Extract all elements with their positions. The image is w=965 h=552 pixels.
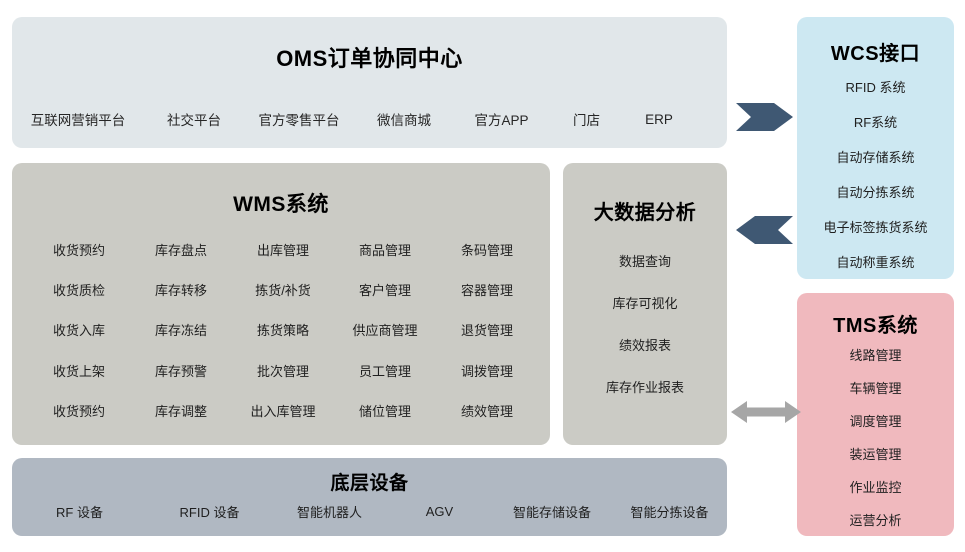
wms-module-batch-management[interactable]: 批次管理 [257, 361, 309, 380]
wms-module-stock-count[interactable]: 库存盘点 [155, 240, 207, 259]
oms-channel-official-retail[interactable]: 官方零售平台 [244, 109, 354, 129]
oms-channel-store[interactable]: 门店 [549, 109, 624, 129]
oms-title: OMS订单协同中心 [12, 41, 727, 73]
wcs-item-rf-system[interactable]: RF系统 [854, 112, 897, 131]
wms-module-allocation-management[interactable]: 调拨管理 [461, 361, 513, 380]
wms-title: WMS系统 [12, 188, 550, 218]
wcs-item-rfid-system[interactable]: RFID 系统 [846, 77, 906, 96]
wms-module-grid: 收货预约 库存盘点 出库管理 商品管理 条码管理 收货质检 库存转移 拣货/补货… [28, 229, 538, 431]
wms-module-receipt-appointment[interactable]: 收货预约 [53, 240, 105, 259]
wms-module-stock-transfer[interactable]: 库存转移 [155, 280, 207, 299]
bigdata-item-inventory-ops-report[interactable]: 库存作业报表 [606, 377, 684, 396]
devices-title: 底层设备 [12, 468, 727, 495]
wms-module-receipt-inspection[interactable]: 收货质检 [53, 280, 105, 299]
device-smart-sorting[interactable]: 智能分拣设备 [612, 502, 727, 521]
diagram-canvas: OMS订单协同中心 互联网营销平台 社交平台 官方零售平台 微信商城 官方APP… [0, 0, 965, 552]
oms-channel-official-app[interactable]: 官方APP [454, 109, 549, 129]
tms-item-list: 线路管理 车辆管理 调度管理 装运管理 作业监控 运营分析 [797, 345, 954, 529]
wms-module-product-management[interactable]: 商品管理 [359, 240, 411, 259]
wcs-item-auto-storage-system[interactable]: 自动存储系统 [836, 147, 914, 166]
tms-panel: TMS系统 线路管理 车辆管理 调度管理 装运管理 作业监控 运营分析 [797, 293, 954, 536]
tms-item-route-management[interactable]: 线路管理 [849, 345, 901, 364]
device-smart-robot[interactable]: 智能机器人 [272, 502, 387, 521]
bigdata-item-data-query[interactable]: 数据查询 [619, 251, 671, 270]
arrow-bidirectional-bigdata-to-tms-icon [731, 398, 801, 426]
tms-item-vehicle-management[interactable]: 车辆管理 [849, 378, 901, 397]
tms-item-shipping-management[interactable]: 装运管理 [849, 444, 901, 463]
oms-channel-row: 互联网营销平台 社交平台 官方零售平台 微信商城 官方APP 门店 ERP [12, 109, 727, 129]
oms-channel-erp[interactable]: ERP [624, 112, 694, 127]
tms-item-dispatch-management[interactable]: 调度管理 [849, 411, 901, 430]
device-agv[interactable]: AGV [387, 504, 492, 519]
device-rfid[interactable]: RFID 设备 [147, 502, 272, 521]
bigdata-title: 大数据分析 [563, 196, 727, 225]
device-rf[interactable]: RF 设备 [12, 502, 147, 521]
tms-item-operation-monitoring[interactable]: 作业监控 [849, 477, 901, 496]
wms-module-stock-alert[interactable]: 库存预警 [155, 361, 207, 380]
wms-module-location-management[interactable]: 储位管理 [359, 401, 411, 420]
tms-title: TMS系统 [797, 309, 954, 338]
wms-module-stock-freeze[interactable]: 库存冻结 [155, 320, 207, 339]
wms-module-receipt-putaway[interactable]: 收货上架 [53, 361, 105, 380]
wms-module-receipt-inbound[interactable]: 收货入库 [53, 320, 105, 339]
arrow-left-wcs-to-wms-icon [736, 212, 794, 248]
bigdata-item-list: 数据查询 库存可视化 绩效报表 库存作业报表 [563, 251, 727, 396]
oms-channel-internet-marketing[interactable]: 互联网营销平台 [12, 109, 144, 129]
wms-module-inbound-outbound[interactable]: 出入库管理 [250, 401, 315, 420]
bigdata-item-inventory-visualization[interactable]: 库存可视化 [612, 293, 677, 312]
oms-channel-social[interactable]: 社交平台 [144, 109, 244, 129]
wms-module-receipt-appointment-2[interactable]: 收货预约 [53, 401, 105, 420]
oms-channel-wechat-mall[interactable]: 微信商城 [354, 109, 454, 129]
wms-module-container-management[interactable]: 容器管理 [461, 280, 513, 299]
devices-item-row: RF 设备 RFID 设备 智能机器人 AGV 智能存储设备 智能分拣设备 [12, 502, 727, 521]
device-smart-storage[interactable]: 智能存储设备 [492, 502, 612, 521]
wms-module-return-management[interactable]: 退货管理 [461, 320, 513, 339]
bigdata-item-performance-report[interactable]: 绩效报表 [619, 335, 671, 354]
wcs-item-auto-weighing-system[interactable]: 自动称重系统 [836, 252, 914, 271]
wms-module-barcode-management[interactable]: 条码管理 [461, 240, 513, 259]
wms-module-picking-replenish[interactable]: 拣货/补货 [255, 280, 311, 299]
wms-module-stock-adjustment[interactable]: 库存调整 [155, 401, 207, 420]
devices-panel: 底层设备 RF 设备 RFID 设备 智能机器人 AGV 智能存储设备 智能分拣… [12, 458, 727, 536]
wms-panel: WMS系统 收货预约 库存盘点 出库管理 商品管理 条码管理 收货质检 库存转移… [12, 163, 550, 445]
wms-module-supplier-management[interactable]: 供应商管理 [352, 320, 417, 339]
oms-panel: OMS订单协同中心 互联网营销平台 社交平台 官方零售平台 微信商城 官方APP… [12, 17, 727, 148]
wms-module-employee-management[interactable]: 员工管理 [359, 361, 411, 380]
wcs-panel: WCS接口 RFID 系统 RF系统 自动存储系统 自动分拣系统 电子标签拣货系… [797, 17, 954, 279]
wcs-item-auto-sorting-system[interactable]: 自动分拣系统 [836, 182, 914, 201]
tms-item-operation-analysis[interactable]: 运营分析 [849, 510, 901, 529]
wcs-title: WCS接口 [797, 37, 954, 66]
wms-module-performance-management[interactable]: 绩效管理 [461, 401, 513, 420]
wms-module-picking-strategy[interactable]: 拣货策略 [257, 320, 309, 339]
wcs-item-list: RFID 系统 RF系统 自动存储系统 自动分拣系统 电子标签拣货系统 自动称重… [797, 77, 954, 271]
wms-module-outbound-management[interactable]: 出库管理 [257, 240, 309, 259]
arrow-right-oms-to-wcs-icon [736, 99, 794, 135]
wcs-item-e-label-picking-system[interactable]: 电子标签拣货系统 [823, 217, 927, 236]
wms-module-customer-management[interactable]: 客户管理 [359, 280, 411, 299]
bigdata-panel: 大数据分析 数据查询 库存可视化 绩效报表 库存作业报表 [563, 163, 727, 445]
